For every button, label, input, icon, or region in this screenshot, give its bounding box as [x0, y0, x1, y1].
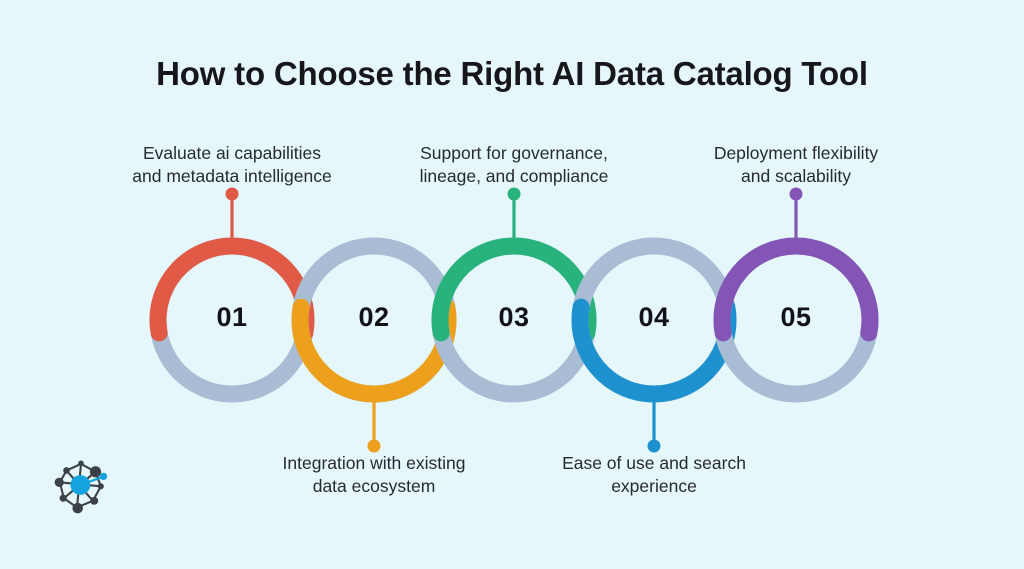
connector-dot	[368, 440, 381, 453]
step-number: 01	[172, 302, 292, 333]
step-label: Support for governance, lineage, and com…	[364, 142, 664, 188]
process-step-ring[interactable]	[158, 188, 306, 395]
connector-dot	[648, 440, 661, 453]
connector-dot	[790, 188, 803, 201]
process-step-ring[interactable]	[440, 188, 588, 395]
step-label: Integration with existing data ecosystem	[224, 452, 524, 498]
process-step-ring[interactable]	[580, 246, 728, 453]
process-step-ring[interactable]	[300, 246, 448, 453]
step-label: Ease of use and search experience	[504, 452, 804, 498]
step-number: 04	[594, 302, 714, 333]
step-label: Evaluate ai capabilities and metadata in…	[82, 142, 382, 188]
step-number: 03	[454, 302, 574, 333]
network-nodes-logo	[48, 452, 114, 518]
step-number: 02	[314, 302, 434, 333]
infographic-canvas: How to Choose the Right AI Data Catalog …	[0, 0, 1024, 569]
connector-dot	[226, 188, 239, 201]
step-number: 05	[736, 302, 856, 333]
step-label: Deployment flexibility and scalability	[646, 142, 946, 188]
process-step-ring[interactable]	[722, 188, 870, 395]
connector-dot	[508, 188, 521, 201]
